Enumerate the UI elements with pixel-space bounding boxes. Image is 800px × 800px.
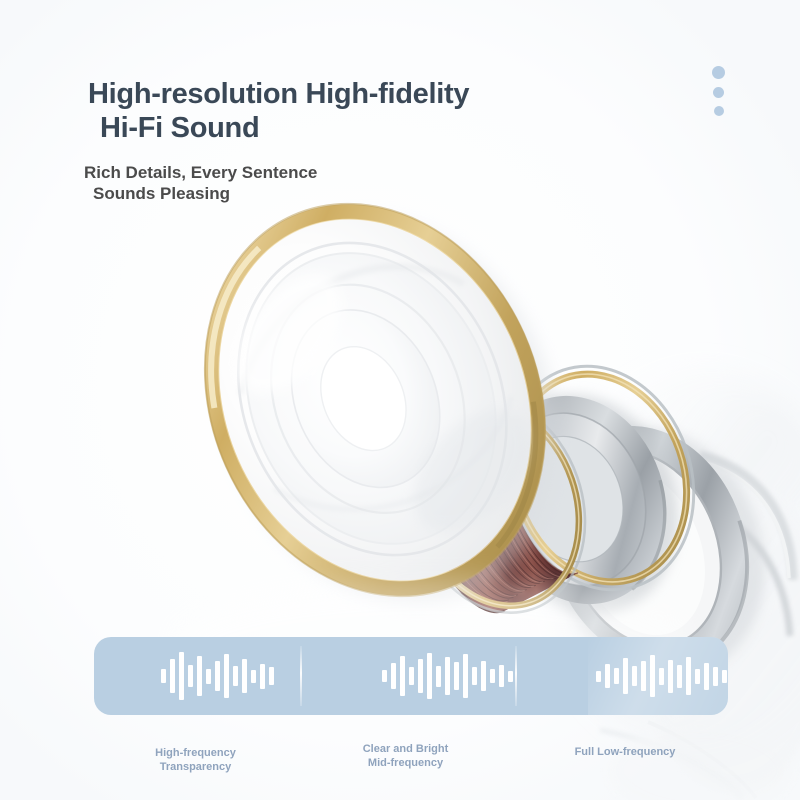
page-title-line-1: High-resolution High-fidelity [88, 78, 469, 112]
waveform-bar [445, 657, 450, 695]
waveform-bar [614, 668, 619, 684]
waveform-bar [623, 658, 628, 694]
waveform-bar [632, 666, 637, 686]
page-subtitle: Rich Details, Every Sentence Sounds Plea… [84, 163, 317, 204]
waveform-bar [400, 656, 405, 696]
waveform-mid-frequency [382, 637, 513, 715]
waveform-bar [650, 655, 655, 697]
waveform-bar [161, 669, 166, 683]
caption-mid-frequency: Clear and Bright Mid-frequency [333, 743, 478, 771]
decorative-dots [712, 66, 725, 116]
waveform-bar [409, 667, 414, 685]
panel-divider-1 [300, 646, 302, 706]
waveform-bar [382, 670, 387, 682]
waveform-bar [686, 657, 691, 695]
waveform-bar [454, 662, 459, 690]
waveform-bar [472, 667, 477, 685]
panel-divider-2 [515, 646, 517, 706]
waveform-bar [713, 667, 718, 686]
waveform-bar [188, 665, 193, 687]
waveform-bar [695, 669, 700, 684]
page-subtitle-line-2: Sounds Pleasing [84, 184, 317, 205]
decor-dot-1 [712, 66, 725, 79]
caption-mid-frequency-line-2: Mid-frequency [333, 757, 478, 771]
waveform-bar [269, 667, 274, 685]
waveform-bar [215, 661, 220, 691]
waveform-bar [251, 670, 256, 683]
waveform-high-frequency [161, 637, 274, 715]
waveform-bar [605, 664, 610, 688]
waveform-bar [659, 668, 664, 685]
waveform-bar [224, 654, 229, 698]
waveform-bar [391, 663, 396, 689]
waveform-bar [179, 652, 184, 700]
decor-dot-2 [713, 87, 724, 98]
waveform-bar [677, 665, 682, 688]
waveform-bar [197, 656, 202, 696]
waveform-bar [481, 661, 486, 691]
waveform-bar [170, 659, 175, 693]
page-subtitle-line-1: Rich Details, Every Sentence [84, 163, 317, 184]
waveform-bar [704, 663, 709, 690]
caption-high-frequency-line-2: Transparency [118, 761, 273, 775]
frequency-feature-panel [94, 637, 728, 715]
caption-low-frequency-line-1: Full Low-frequency [575, 746, 676, 758]
waveform-bar [418, 659, 423, 693]
waveform-bar [641, 661, 646, 691]
decor-dot-3 [714, 106, 724, 116]
page-title: High-resolution High-fidelity Hi-Fi Soun… [88, 78, 469, 146]
waveform-bar [463, 654, 468, 698]
waveform-low-frequency [596, 637, 728, 715]
waveform-bar [508, 671, 513, 682]
waveform-bar [490, 669, 495, 683]
waveform-bar [722, 670, 727, 683]
caption-high-frequency-line-1: High-frequency [155, 747, 236, 759]
waveform-bar [668, 660, 673, 693]
caption-mid-frequency-line-1: Clear and Bright [363, 743, 449, 755]
waveform-bar [242, 659, 247, 693]
page-title-line-2: Hi-Fi Sound [88, 112, 469, 146]
frequency-captions: High-frequency Transparency Clear and Br… [0, 743, 800, 793]
waveform-bar [436, 666, 441, 687]
waveform-bar [499, 665, 504, 687]
waveform-bar [233, 666, 238, 686]
waveform-bar [206, 669, 211, 684]
waveform-bar [427, 653, 432, 699]
caption-high-frequency: High-frequency Transparency [118, 747, 273, 775]
waveform-bar [260, 664, 265, 689]
promo-banner: High-resolution High-fidelity Hi-Fi Soun… [0, 0, 800, 800]
caption-low-frequency: Full Low-frequency [540, 746, 710, 760]
waveform-bar [596, 671, 601, 682]
